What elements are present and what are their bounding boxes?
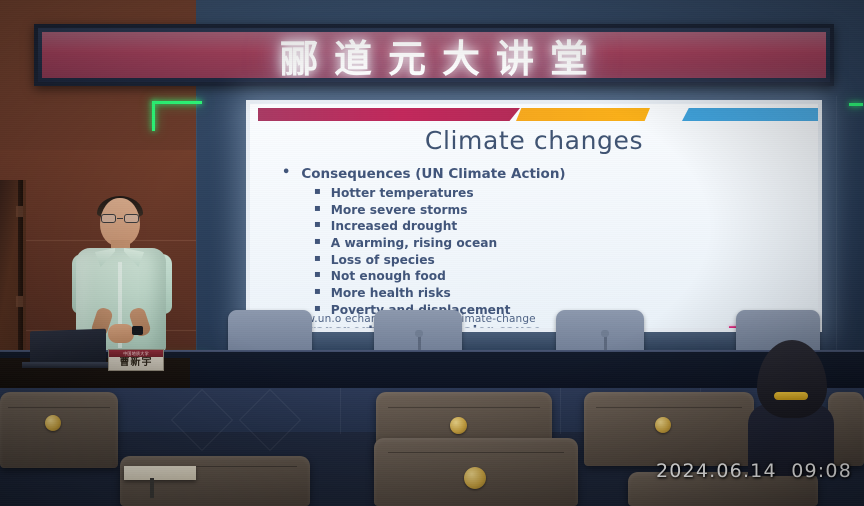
slide-surface: Climate changes • Consequences (UN Clima… bbox=[250, 104, 818, 328]
list-item: ▪ A warming, rising ocean bbox=[314, 235, 808, 252]
wall-panel-divider-2 bbox=[560, 388, 561, 434]
glasses-icon bbox=[101, 214, 139, 223]
accent-bar-amber bbox=[516, 108, 650, 121]
bullet-text: Increased drought bbox=[331, 218, 457, 235]
camera-timestamp: 2024.06.14 09:08 bbox=[656, 460, 852, 482]
bullet-dot-icon: ▪ bbox=[314, 285, 321, 300]
accent-bar-blue bbox=[682, 108, 818, 121]
bullet-dot-icon: ▪ bbox=[314, 185, 321, 200]
door-hinge-top bbox=[16, 206, 23, 217]
seat-seam bbox=[596, 407, 742, 408]
bullet-text: A warming, rising ocean bbox=[331, 235, 497, 252]
list-item: ▪ More severe storms bbox=[314, 202, 808, 219]
speaker-nameplate: 中国地质大学 曹新宇 bbox=[108, 349, 164, 371]
list-item[interactable] bbox=[374, 438, 578, 506]
banner-inner: 郦道元大讲堂 bbox=[42, 32, 826, 78]
bullet-dot-icon: • bbox=[282, 166, 290, 181]
bullet-text: More health risks bbox=[331, 285, 451, 302]
seat-seam bbox=[8, 407, 110, 408]
bullet-dot-icon: ▪ bbox=[314, 252, 321, 267]
microphone-head-2 bbox=[601, 330, 609, 337]
bullet-dot-icon: ▪ bbox=[314, 235, 321, 250]
seat-seam bbox=[388, 407, 539, 408]
list-item[interactable] bbox=[584, 392, 754, 466]
list-item: ▪ Increased drought bbox=[314, 218, 808, 235]
speaker-clasped-hands bbox=[108, 324, 134, 343]
seat-medallion-icon bbox=[45, 415, 61, 431]
wall-panel-divider-1 bbox=[340, 388, 341, 434]
bullet-dot-icon: ▪ bbox=[314, 218, 321, 233]
laptop-base bbox=[22, 362, 114, 368]
glasses-lens-left bbox=[101, 214, 116, 223]
bullet-text: More severe storms bbox=[331, 202, 468, 219]
microphone-head-1 bbox=[415, 330, 423, 337]
bullet-text: Loss of species bbox=[331, 252, 435, 269]
alignment-marker-top-right bbox=[849, 103, 863, 106]
seat-seam bbox=[388, 452, 563, 453]
nameplate-header: 中国地质大学 bbox=[109, 350, 163, 357]
list-item: ▪ Hotter temperatures bbox=[314, 185, 808, 202]
accent-bar-crimson bbox=[258, 108, 520, 121]
list-item: ▪ Loss of species bbox=[314, 252, 808, 269]
wall-panel-line-1 bbox=[196, 96, 197, 356]
glasses-bridge bbox=[117, 218, 123, 219]
list-item: ▪ Not enough food bbox=[314, 268, 808, 285]
bullet-text: Hotter temperatures bbox=[331, 185, 474, 202]
writing-tablet[interactable] bbox=[124, 466, 196, 480]
hair-clip-icon bbox=[774, 392, 808, 400]
projection-screen: Climate changes • Consequences (UN Clima… bbox=[246, 100, 822, 332]
slide-accent-bars bbox=[258, 108, 812, 123]
door-hinge-bottom bbox=[16, 296, 23, 307]
seat-medallion-icon bbox=[655, 417, 671, 433]
bullet-dot-icon: ▪ bbox=[314, 202, 321, 217]
bullet-text: Not enough food bbox=[331, 268, 446, 285]
writing-tablet-arm bbox=[150, 478, 154, 498]
list-item[interactable] bbox=[0, 392, 118, 468]
seat-medallion-icon bbox=[464, 467, 486, 489]
wall-panel-line-2 bbox=[836, 96, 837, 356]
venue-banner: 郦道元大讲堂 bbox=[34, 24, 834, 86]
bullet-level1-consequences: • Consequences (UN Climate Action) bbox=[282, 166, 808, 184]
list-item: ▪ More health risks bbox=[314, 285, 808, 302]
slide-title: Climate changes bbox=[250, 126, 818, 155]
bullet-text: Consequences (UN Climate Action) bbox=[301, 166, 565, 184]
laptop[interactable] bbox=[30, 329, 106, 366]
bullet-dot-icon: ▪ bbox=[314, 268, 321, 283]
wristwatch-icon bbox=[132, 326, 143, 335]
nameplate-name: 曹新宇 bbox=[120, 358, 153, 370]
alignment-marker-top-left-horizontal bbox=[152, 101, 202, 104]
list-item[interactable] bbox=[120, 456, 310, 506]
slide-bullet-list: • Consequences (UN Climate Action) ▪ Hot… bbox=[276, 166, 808, 328]
seat-medallion-icon bbox=[450, 417, 467, 434]
glasses-lens-right bbox=[124, 214, 139, 223]
lecture-hall-photo: 郦道元大讲堂 Climate changes • Consequences (U… bbox=[0, 0, 864, 506]
banner-title: 郦道元大讲堂 bbox=[264, 32, 604, 78]
alignment-marker-top-left-vertical bbox=[152, 101, 155, 131]
bullet-level2-group: ▪ Hotter temperatures ▪ More severe stor… bbox=[314, 185, 808, 319]
